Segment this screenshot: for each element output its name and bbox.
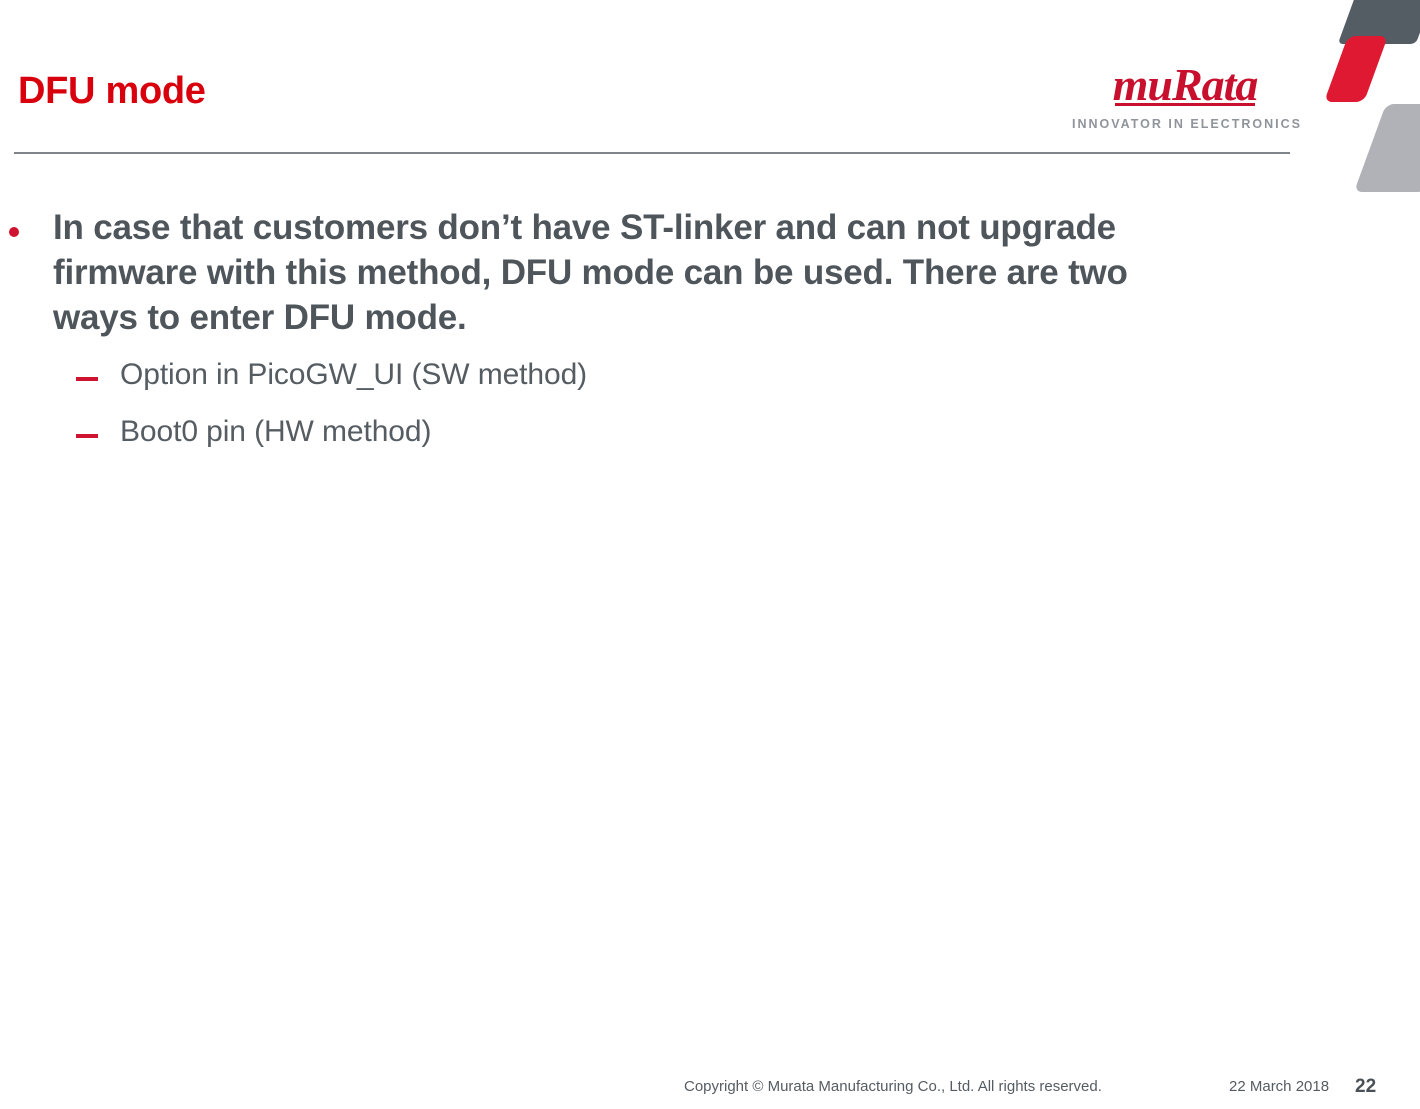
list-item: In case that customers don’t have ST-lin… <box>0 205 1260 340</box>
footer-date: 22 March 2018 <box>1229 1078 1329 1095</box>
slide-footer: Copyright © Murata Manufacturing Co., Lt… <box>0 1076 1420 1100</box>
slide: DFU mode muRata INNOVATOR IN ELECTRONICS… <box>0 0 1420 1109</box>
title-divider <box>14 152 1290 154</box>
deco-red-parallelogram-icon <box>1324 36 1388 102</box>
bullet-dash-icon <box>76 434 98 438</box>
sub-bullet-text: Option in PicoGW_UI (SW method) <box>120 358 587 391</box>
list-item: Boot0 pin (HW method) <box>0 417 1260 447</box>
page-title: DFU mode <box>18 70 206 113</box>
sub-bullet-list: Option in PicoGW_UI (SW method) Boot0 pi… <box>0 360 1260 447</box>
bullet-dot-icon <box>9 227 19 237</box>
list-item: Option in PicoGW_UI (SW method) <box>0 360 1260 390</box>
deco-gray-parallelogram-icon <box>1354 104 1420 192</box>
deco-dark-parallelogram-icon <box>1338 0 1420 44</box>
logo-wordmark: muRata <box>1113 62 1258 108</box>
logo-tagline: INNOVATOR IN ELECTRONICS <box>1072 117 1298 131</box>
murata-logo: muRata INNOVATOR IN ELECTRONICS <box>1072 62 1298 131</box>
sub-bullet-text: Boot0 pin (HW method) <box>120 415 431 448</box>
footer-page-number: 22 <box>1355 1076 1376 1098</box>
corner-decoration <box>1330 0 1420 200</box>
bullet-dash-icon <box>76 377 98 381</box>
footer-copyright: Copyright © Murata Manufacturing Co., Lt… <box>684 1078 1102 1095</box>
bullet-text: In case that customers don’t have ST-lin… <box>53 208 1128 337</box>
slide-body: In case that customers don’t have ST-lin… <box>0 205 1260 474</box>
